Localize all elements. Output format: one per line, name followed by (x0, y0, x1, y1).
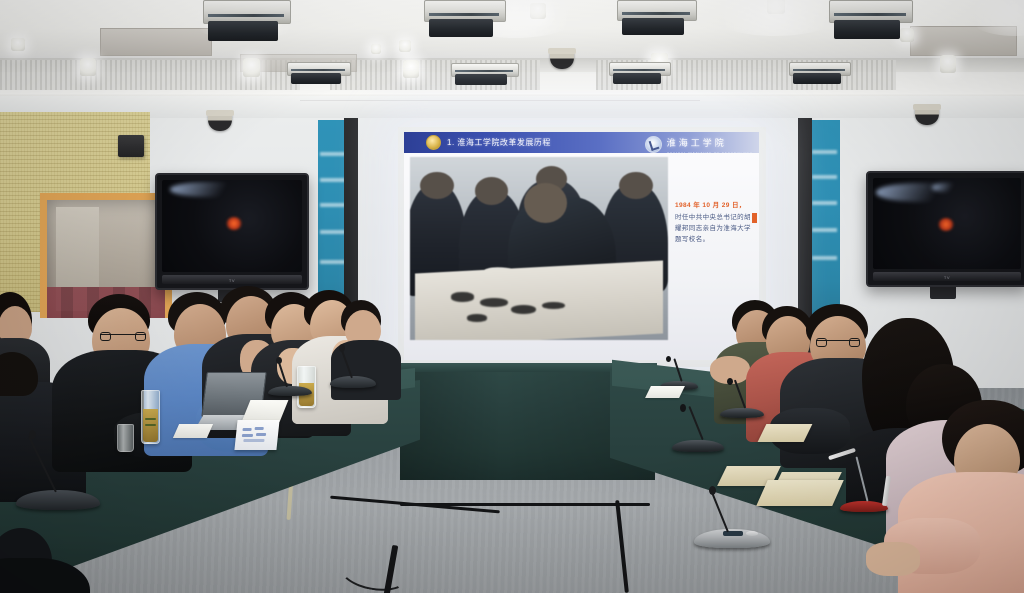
ceiling-fixture-8 (789, 62, 849, 88)
right-tv-panel (873, 178, 1021, 269)
speaker-glasses-icon (100, 334, 146, 335)
ceiling-glow-right (700, 0, 850, 36)
slide-historical-photo (410, 157, 668, 340)
wall-speaker (118, 135, 144, 157)
name-card-left (234, 420, 279, 450)
mic-capsule (29, 430, 36, 439)
right-tv-sheen-2 (932, 183, 962, 191)
right-tv-logo: TV (944, 275, 950, 280)
slide-title-bar: 1. 淮海工学院改革发展历程 淮海工学院 HUAIHAI INSTITUTE O… (404, 132, 759, 153)
ceiling-fixture-4 (451, 63, 517, 89)
left-tv-reflection (226, 217, 242, 230)
conference-mic-left-3[interactable] (268, 378, 312, 396)
floor-cable-3 (400, 503, 650, 506)
notebook-right-4 (756, 480, 844, 506)
right-tv-reflection (938, 218, 954, 231)
left-tv-sheen (170, 182, 251, 197)
downlight-6 (403, 60, 419, 78)
slide-caption-body: 时任中共中央总书记的胡耀邦同志亲自为淮海大学题写校名。 (675, 212, 753, 245)
wall-seam-top (300, 100, 700, 101)
conference-mic-right-2[interactable] (672, 430, 724, 452)
suspended-ceiling (0, 0, 1024, 100)
downlight-11 (940, 55, 956, 73)
conference-mic-left-1[interactable] (16, 476, 100, 510)
downlight-2 (80, 58, 96, 76)
conference-mic-left-2[interactable] (330, 368, 376, 388)
notebook-right-1 (758, 424, 813, 442)
paper-left-2 (173, 424, 213, 438)
paper-right-1 (645, 386, 685, 398)
ceiling-fixture-6 (609, 62, 669, 88)
left-tv[interactable]: TV (155, 173, 309, 290)
conference-mic-right-5[interactable] (840, 492, 888, 512)
ceiling-fixture-2 (287, 62, 349, 88)
ceiling-vent-left (100, 28, 212, 56)
slide-title-text: 1. 淮海工学院改革发展历程 (447, 137, 551, 148)
downlight-5 (371, 44, 381, 54)
conference-mic-right-3[interactable] (720, 400, 764, 418)
slide-caption-date: 1984 年 10 月 29 日， (675, 199, 753, 209)
tea-glass-left[interactable] (141, 390, 160, 444)
ceiling-fixture-3 (424, 0, 504, 38)
slide-caption: 1984 年 10 月 29 日， 时任中共中央总书记的胡耀邦同志亲自为淮海大学… (675, 199, 753, 245)
person-woman-pink-coat (908, 400, 1024, 593)
university-emblem-icon (645, 136, 662, 153)
downlight-4 (399, 40, 411, 52)
conference-room-photo: TV TV 1. 淮海工学院改革发展历程 淮海工学院 HUAIHAI INSTI… (0, 0, 1024, 593)
slide-badge-icon (426, 135, 441, 150)
left-tv-logo: TV (229, 278, 235, 283)
downlight-3 (243, 58, 260, 77)
ceiling-fixture-1 (203, 0, 289, 42)
left-tv-panel (162, 180, 302, 272)
institution-name-cn: 淮海工学院 (667, 138, 727, 148)
water-glass-left[interactable] (117, 424, 134, 452)
ceiling-fixture-7 (829, 0, 911, 40)
ceiling-fixture-5 (617, 0, 695, 36)
slide-institution-logo: 淮海工学院 HUAIHAI INSTITUTE OF TECHNOLOGY (645, 133, 753, 155)
slide-body: 1984 年 10 月 29 日， 时任中共中央总书记的胡耀邦同志亲自为淮海大学… (404, 153, 759, 360)
conference-mic-right-1[interactable] (694, 516, 770, 548)
projection-screen[interactable]: 1. 淮海工学院改革发展历程 淮海工学院 HUAIHAI INSTITUTE O… (404, 132, 759, 360)
right-tv[interactable]: TV (866, 171, 1024, 287)
downlight-1 (11, 38, 25, 51)
